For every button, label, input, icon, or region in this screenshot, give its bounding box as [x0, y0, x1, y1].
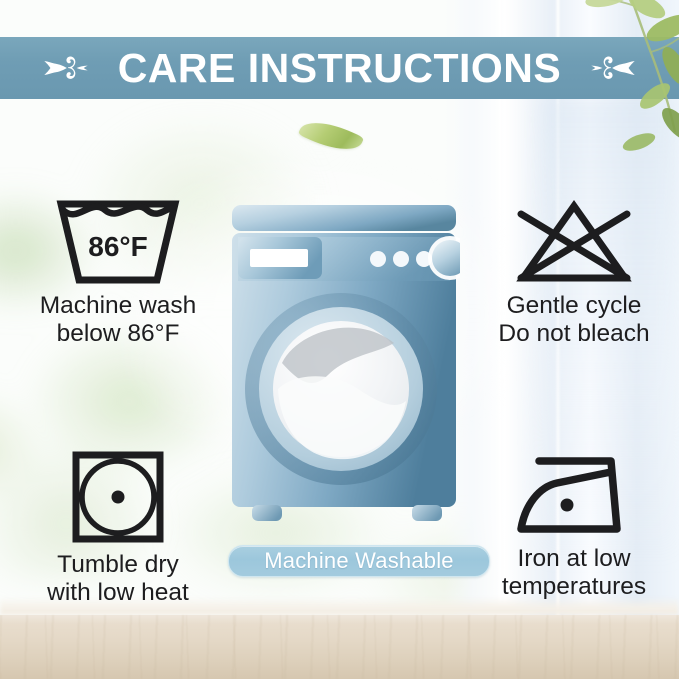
machine-indicator-dot	[370, 251, 386, 267]
badge-label: Machine Washable	[264, 548, 453, 574]
care-symbol-machine-wash: 86°F Machine wash below 86°F	[12, 198, 224, 349]
machine-foot	[412, 505, 442, 521]
washing-machine-illustration	[228, 203, 460, 537]
care-symbol-caption: Gentle cycle Do not bleach	[472, 292, 676, 349]
care-instructions-graphic: CARE INSTRUCTIONS 86°F Machine wash belo…	[0, 0, 679, 679]
wash-temperature-value: 86°F	[88, 231, 147, 262]
care-symbol-caption: Machine wash below 86°F	[12, 292, 224, 349]
wood-grain-texture	[0, 615, 679, 679]
care-symbol-iron-low: Iron at low temperatures	[472, 449, 676, 602]
wash-tub-icon: 86°F	[53, 198, 183, 286]
tumble-dry-low-icon	[70, 449, 166, 545]
care-symbol-caption: Tumble dry with low heat	[12, 551, 224, 608]
machine-indicator-dot	[393, 251, 409, 267]
washing-machine-svg	[228, 203, 460, 537]
machine-washable-badge: Machine Washable	[228, 545, 490, 577]
machine-display-screen	[250, 249, 308, 267]
machine-foot	[252, 505, 282, 521]
iron-low-heat-icon	[513, 449, 635, 539]
care-symbol-tumble-dry: Tumble dry with low heat	[12, 449, 224, 608]
machine-top-lid	[232, 205, 456, 231]
triangle-crossed-out-icon	[513, 198, 635, 286]
page-title: CARE INSTRUCTIONS	[118, 48, 562, 89]
care-symbol-caption: Iron at low temperatures	[472, 545, 676, 602]
care-symbol-do-not-bleach: Gentle cycle Do not bleach	[472, 198, 676, 349]
fleur-de-lis-icon	[38, 46, 92, 90]
leaf-branch-icon	[535, 0, 679, 162]
